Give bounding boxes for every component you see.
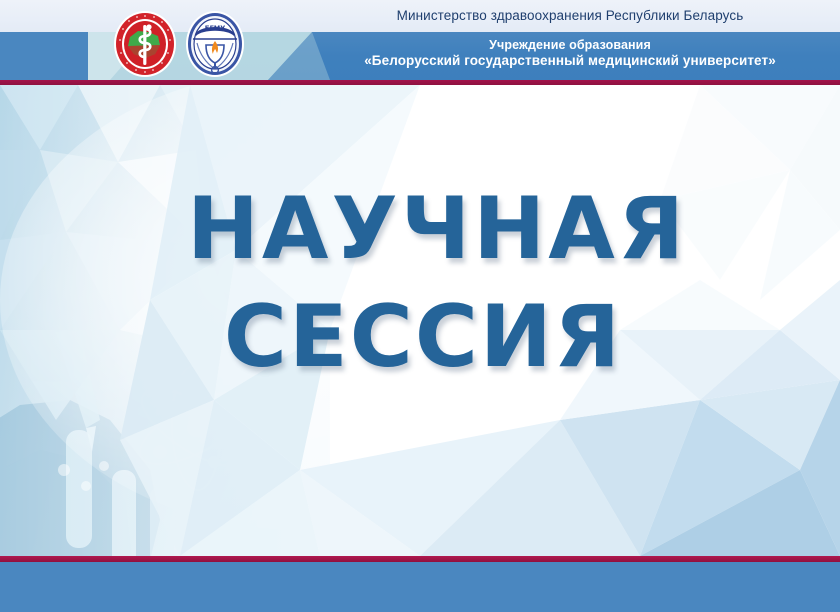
slide-background <box>0 0 840 612</box>
slide-header: БГМУ Министерство здравоохранения Респуб… <box>0 0 840 86</box>
slide-footer <box>0 556 840 612</box>
svg-text:БГМУ: БГМУ <box>205 24 226 32</box>
slide-root: БГМУ Министерство здравоохранения Респуб… <box>0 0 840 612</box>
ministry-title: Министерство здравоохранения Республики … <box>300 0 840 32</box>
emblem-group: БГМУ <box>112 7 252 81</box>
footer-band <box>0 562 840 612</box>
organization-title-line-1: Учреждение образования <box>300 34 840 53</box>
organization-title-line-2: «Белорусский государственный медицинский… <box>300 53 840 69</box>
organization-title: Учреждение образования «Белорусский госу… <box>300 34 840 80</box>
ministry-of-health-emblem <box>112 9 178 79</box>
bsmu-emblem: БГМУ <box>184 9 246 79</box>
